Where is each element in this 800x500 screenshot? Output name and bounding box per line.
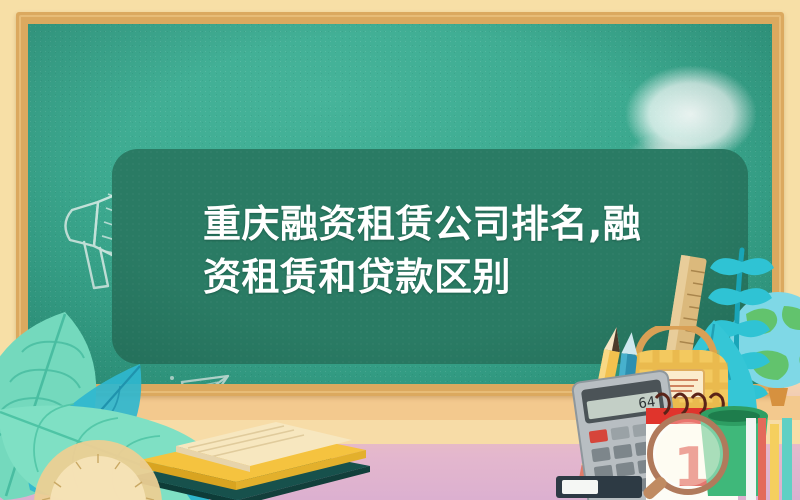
magnifier-icon <box>628 412 748 500</box>
supplies-sticks-icon <box>740 418 800 500</box>
desk-item-bottom-right-icon <box>556 470 646 500</box>
protractor-icon <box>28 438 168 500</box>
banner-canvas: 重庆融资租赁公司排名,融 资租赁和贷款区别 <box>0 0 800 500</box>
